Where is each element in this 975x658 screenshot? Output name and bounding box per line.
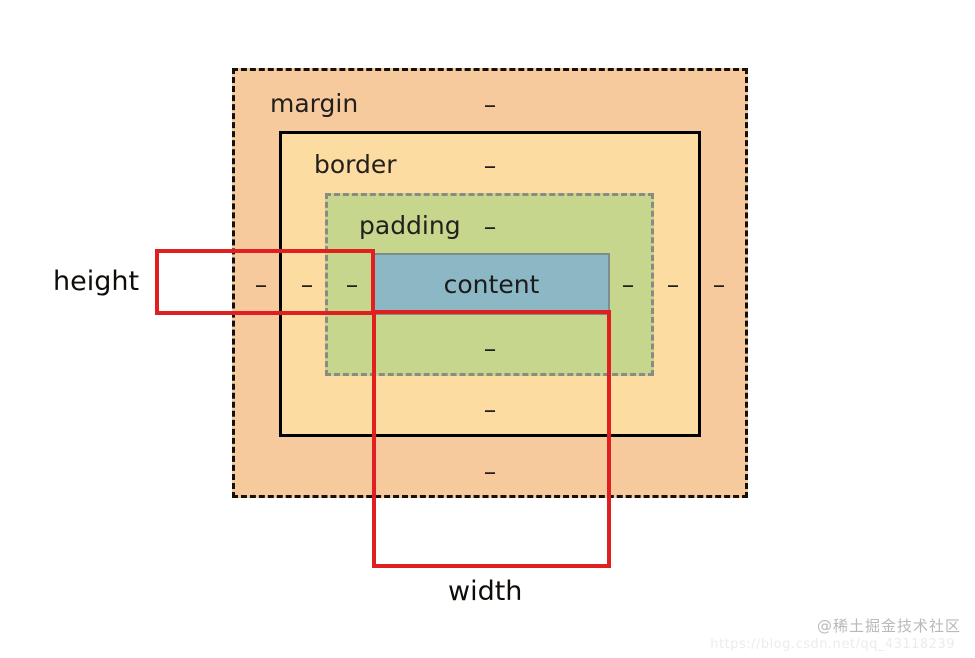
- border-label: border: [314, 152, 397, 177]
- content-label: content: [373, 253, 610, 315]
- tick-margin-top: –: [481, 92, 499, 117]
- height-measure-rect: [155, 249, 375, 315]
- tick-border-right: –: [664, 272, 682, 297]
- watermark-handle: @稀土掘金技术社区: [817, 615, 961, 636]
- margin-label: margin: [270, 91, 358, 116]
- width-label: width: [448, 578, 522, 605]
- tick-margin-right: –: [710, 272, 728, 297]
- box-model-diagram: margin border padding content – – – – – …: [0, 0, 975, 658]
- padding-label: padding: [359, 213, 461, 238]
- tick-padding-right: –: [619, 272, 637, 297]
- watermark-url: https://blog.csdn.net/qq_43118239: [710, 637, 955, 652]
- width-measure-rect: [372, 310, 611, 568]
- tick-padding-top: –: [481, 214, 499, 239]
- tick-border-top: –: [481, 153, 499, 178]
- height-label: height: [53, 268, 139, 295]
